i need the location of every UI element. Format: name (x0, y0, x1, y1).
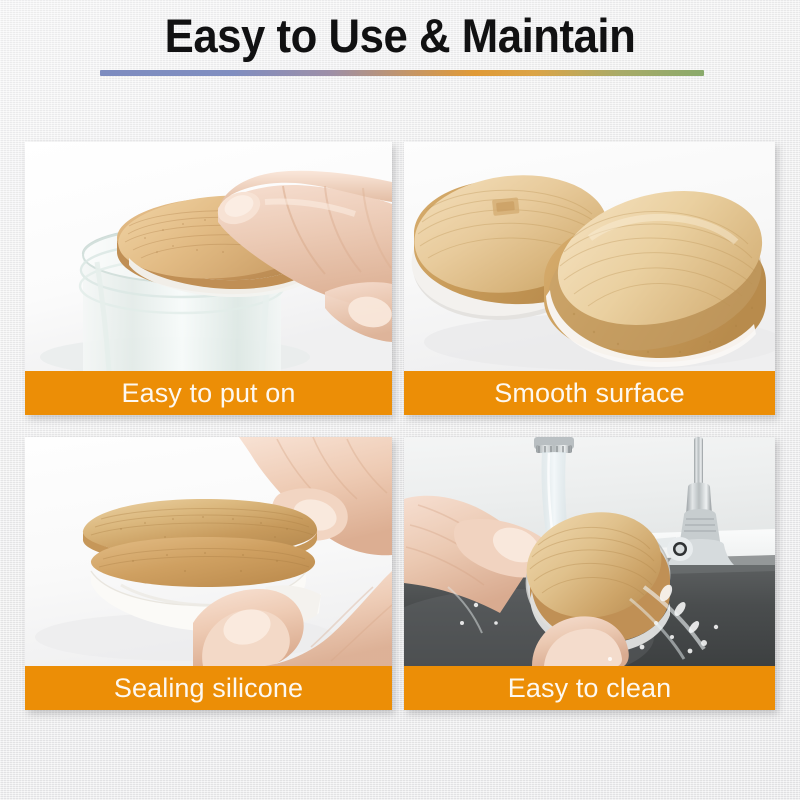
illustration-two-bamboo-lids (404, 142, 775, 371)
caption-bar-easy-to-clean: Easy to clean (404, 666, 775, 710)
page-title: Easy to Use & Maintain (28, 11, 772, 61)
feature-panel-grid: Easy to put on (25, 142, 775, 710)
photo-sealing-silicone (25, 437, 392, 666)
title-gradient-rule (100, 70, 704, 76)
photo-easy-to-clean (404, 437, 775, 666)
illustration-rinsing-lid-under-faucet (404, 437, 775, 666)
feature-panel-easy-to-put-on[interactable]: Easy to put on (25, 142, 392, 415)
caption-text: Smooth surface (494, 379, 685, 407)
caption-text: Easy to put on (121, 379, 295, 407)
illustration-peeling-silicone-ring (25, 437, 392, 666)
feature-panel-sealing-silicone[interactable]: Sealing silicone (25, 437, 392, 710)
photo-smooth-surface (404, 142, 775, 371)
header: Easy to Use & Maintain (0, 0, 800, 130)
photo-easy-to-put-on (25, 142, 392, 371)
caption-bar-sealing-silicone: Sealing silicone (25, 666, 392, 710)
caption-text: Easy to clean (508, 674, 671, 702)
illustration-hand-placing-lid-on-jar (25, 142, 392, 371)
caption-bar-easy-to-put-on: Easy to put on (25, 371, 392, 415)
caption-text: Sealing silicone (114, 674, 303, 702)
feature-panel-smooth-surface[interactable]: Smooth surface (404, 142, 775, 415)
feature-panel-easy-to-clean[interactable]: Easy to clean (404, 437, 775, 710)
caption-bar-smooth-surface: Smooth surface (404, 371, 775, 415)
